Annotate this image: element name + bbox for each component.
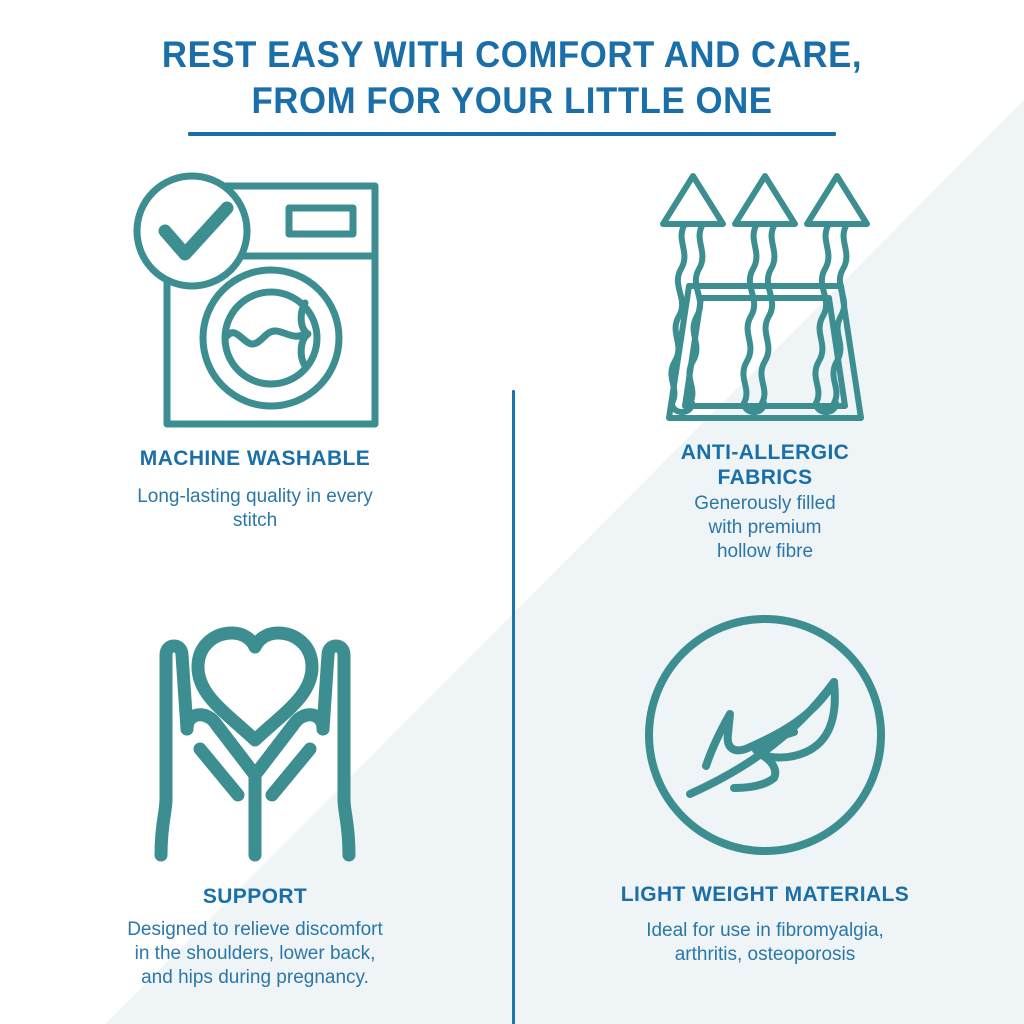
breathable-fabric-airflow-icon [643, 168, 887, 430]
page-title-line-2: FROM FOR YOUR LITTLE ONE [31, 78, 994, 124]
feature-description-line: Generously filled [694, 493, 836, 514]
feature-description-line: Designed to relieve discomfort [127, 919, 383, 940]
page-title-line-1: REST EASY WITH COMFORT AND CARE, [31, 32, 994, 78]
hands-holding-heart-icon [130, 607, 380, 862]
feature-description-line: stitch [233, 510, 277, 531]
feature-description: Designed to relieve discomfort in the sh… [10, 918, 500, 990]
washing-machine-check-icon [119, 158, 391, 430]
feather-in-circle-icon [638, 608, 892, 862]
vertical-divider [512, 390, 515, 1024]
feature-description-line: in the shoulders, lower back, [135, 943, 376, 964]
feature-description-line: Long-lasting quality in every [137, 486, 373, 507]
feature-description-line: hollow fibre [717, 541, 813, 562]
feature-card-anti-allergic-fabrics: ANTI-ALLERGIC FABRICS Generously filled … [520, 150, 1010, 564]
feature-description: Generously filled with premium hollow fi… [520, 492, 1010, 564]
feature-card-light-weight-materials: LIGHT WEIGHT MATERIALS Ideal for use in … [520, 592, 1010, 967]
feature-description: Long-lasting quality in every stitch [10, 485, 500, 533]
icon-container [10, 592, 500, 862]
feature-heading-line: ANTI-ALLERGIC [681, 441, 850, 464]
feature-heading: MACHINE WASHABLE [10, 446, 500, 471]
feature-description-line: and hips during pregnancy. [141, 967, 369, 988]
feature-card-machine-washable: MACHINE WASHABLE Long-lasting quality in… [10, 150, 500, 533]
feature-grid: MACHINE WASHABLE Long-lasting quality in… [0, 140, 1024, 1024]
feature-heading: SUPPORT [10, 884, 500, 909]
icon-container [520, 150, 1010, 430]
feature-description-line: with premium [709, 517, 822, 538]
feature-heading-line: FABRICS [718, 466, 813, 489]
feature-description-line: arthritis, osteoporosis [675, 944, 856, 965]
feature-heading: LIGHT WEIGHT MATERIALS [520, 882, 1010, 907]
page-title: REST EASY WITH COMFORT AND CARE, FROM FO… [31, 0, 994, 124]
feature-description-line: Ideal for use in fibromyalgia, [646, 920, 884, 941]
infographic-canvas: REST EASY WITH COMFORT AND CARE, FROM FO… [0, 0, 1024, 1024]
feature-heading: ANTI-ALLERGIC FABRICS [520, 440, 1010, 490]
icon-container [520, 592, 1010, 862]
feature-card-support: SUPPORT Designed to relieve discomfort i… [10, 592, 500, 990]
feature-description: Ideal for use in fibromyalgia, arthritis… [520, 919, 1010, 967]
header: REST EASY WITH COMFORT AND CARE, FROM FO… [0, 0, 1024, 136]
title-underline-rule [188, 132, 836, 136]
icon-container [10, 150, 500, 430]
